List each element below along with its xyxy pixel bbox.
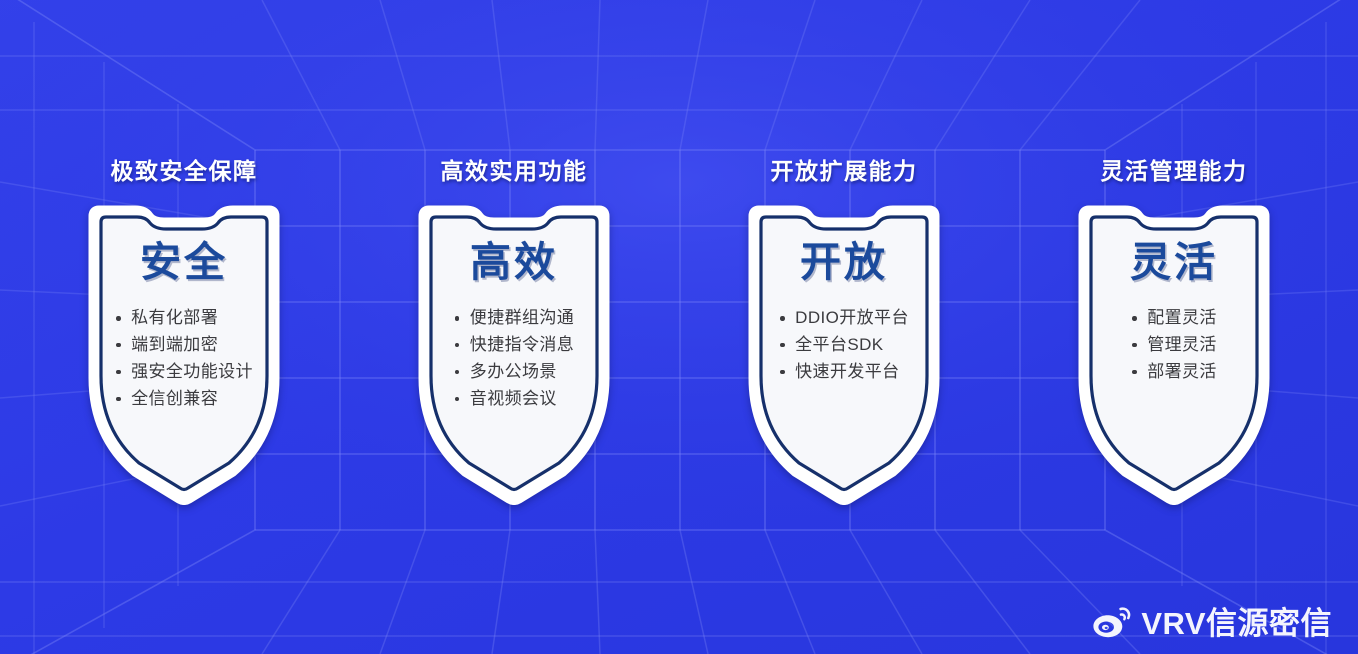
list-item: 配置灵活 bbox=[1131, 305, 1217, 332]
feature-card-flexibility[interactable]: 灵活管理能力 灵活 配置灵活 管理灵活 部署灵活 bbox=[1048, 160, 1300, 510]
weibo-logo-icon bbox=[1092, 606, 1132, 640]
list-item: 便捷群组沟通 bbox=[454, 305, 574, 332]
list-item: 端到端加密 bbox=[115, 332, 218, 359]
list-item: 快速开发平台 bbox=[779, 359, 899, 386]
shield-heading: 安全 bbox=[140, 242, 228, 283]
shield-graphic: 开放 DDIO开放平台 全平台SDK 快速开发平台 bbox=[725, 200, 963, 510]
shield-content: 高效 便捷群组沟通 快捷指令消息 多办公场景 音视频会议 bbox=[395, 200, 633, 510]
infographic-slide: 极致安全保障 安全 私有化部署 端到端加密 强安全功能设计 全信创兼容 bbox=[0, 0, 1358, 654]
weibo-watermark: VRV信源密信 bbox=[1092, 606, 1332, 640]
feature-bullet-list: DDIO开放平台 全平台SDK 快速开发平台 bbox=[779, 305, 909, 386]
feature-bullet-list: 私有化部署 端到端加密 强安全功能设计 全信创兼容 bbox=[115, 305, 253, 412]
card-title: 高效实用功能 bbox=[441, 160, 588, 183]
shield-heading: 开放 bbox=[800, 242, 888, 283]
shield-graphic: 高效 便捷群组沟通 快捷指令消息 多办公场景 音视频会议 bbox=[395, 200, 633, 510]
feature-shield-row: 极致安全保障 安全 私有化部署 端到端加密 强安全功能设计 全信创兼容 bbox=[0, 0, 1358, 654]
feature-card-openness[interactable]: 开放扩展能力 开放 DDIO开放平台 全平台SDK 快速开发平台 bbox=[718, 160, 970, 510]
list-item: DDIO开放平台 bbox=[779, 305, 909, 332]
shield-graphic: 灵活 配置灵活 管理灵活 部署灵活 bbox=[1055, 200, 1293, 510]
list-item: 私有化部署 bbox=[115, 305, 218, 332]
shield-heading: 灵活 bbox=[1130, 242, 1218, 283]
feature-bullet-list: 便捷群组沟通 快捷指令消息 多办公场景 音视频会议 bbox=[454, 305, 574, 412]
shield-content: 安全 私有化部署 端到端加密 强安全功能设计 全信创兼容 bbox=[65, 200, 303, 510]
list-item: 管理灵活 bbox=[1131, 332, 1217, 359]
list-item: 快捷指令消息 bbox=[454, 332, 574, 359]
list-item: 多办公场景 bbox=[454, 359, 557, 386]
shield-content: 灵活 配置灵活 管理灵活 部署灵活 bbox=[1055, 200, 1293, 510]
list-item: 全信创兼容 bbox=[115, 386, 218, 413]
watermark-label: VRV信源密信 bbox=[1141, 608, 1332, 639]
list-item: 强安全功能设计 bbox=[115, 359, 253, 386]
shield-content: 开放 DDIO开放平台 全平台SDK 快速开发平台 bbox=[725, 200, 963, 510]
list-item: 全平台SDK bbox=[779, 332, 883, 359]
shield-heading: 高效 bbox=[470, 242, 558, 283]
card-title: 开放扩展能力 bbox=[771, 160, 918, 183]
list-item: 音视频会议 bbox=[454, 386, 557, 413]
feature-card-efficiency[interactable]: 高效实用功能 高效 便捷群组沟通 快捷指令消息 多办公场景 音视频会议 bbox=[388, 160, 640, 510]
list-item: 部署灵活 bbox=[1131, 359, 1217, 386]
card-title: 灵活管理能力 bbox=[1101, 160, 1248, 183]
shield-graphic: 安全 私有化部署 端到端加密 强安全功能设计 全信创兼容 bbox=[65, 200, 303, 510]
feature-card-security[interactable]: 极致安全保障 安全 私有化部署 端到端加密 强安全功能设计 全信创兼容 bbox=[58, 160, 310, 510]
card-title: 极致安全保障 bbox=[111, 160, 258, 183]
feature-bullet-list: 配置灵活 管理灵活 部署灵活 bbox=[1131, 305, 1217, 386]
